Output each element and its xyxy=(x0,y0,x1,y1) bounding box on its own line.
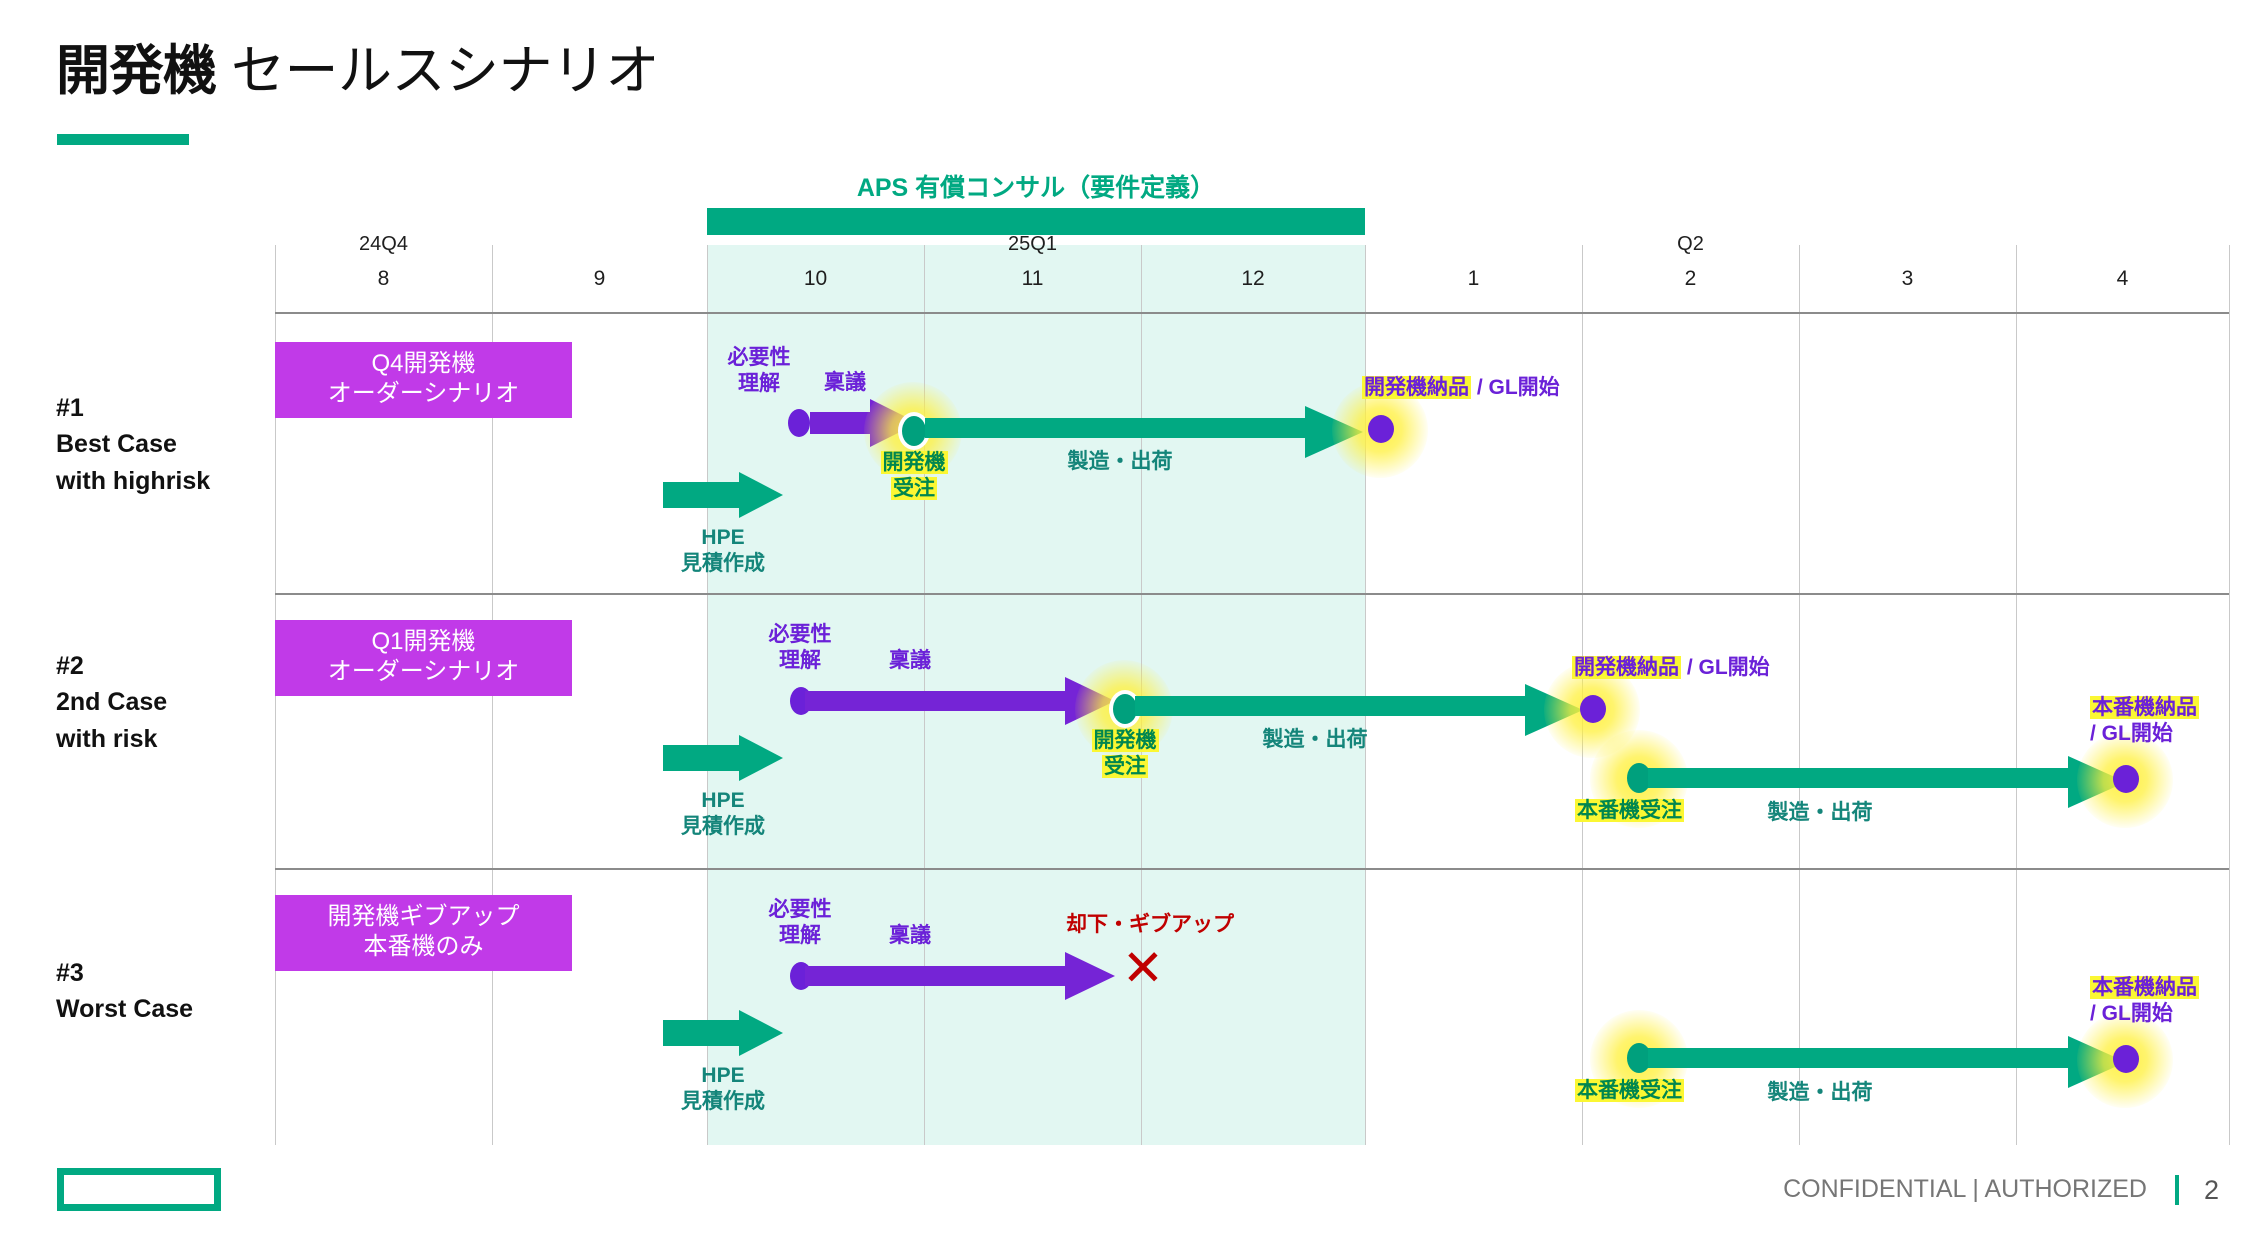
row3-num: #3 xyxy=(56,955,193,991)
ringi-label-2: 稟議 xyxy=(860,648,960,674)
prod-delivery-dot-2 xyxy=(2113,765,2139,793)
page-title-bold: 開発機 xyxy=(56,41,217,101)
prod-delivery-label-3: 本番機納品 / GL開始 xyxy=(2090,975,2199,1026)
scenario-badge-2[interactable]: Q1開発機 オーダーシナリオ xyxy=(275,620,572,696)
need-dot-1 xyxy=(788,409,810,437)
aps-consult-bar xyxy=(707,208,1365,235)
need-2-line2: 理解 xyxy=(740,648,860,674)
ringi-label-1: 稟議 xyxy=(795,370,895,396)
prod-manufacture-3-text: 製造・出荷 xyxy=(1768,1081,1873,1104)
prod-delivery-3-rest: / GL開始 xyxy=(2090,1001,2199,1027)
row2-line3: with risk xyxy=(56,721,167,757)
quarter-label-25q1: 25Q1 xyxy=(924,233,1141,256)
prod-order-label-3: 本番機受注 xyxy=(1575,1078,1684,1104)
row-separator-1 xyxy=(275,593,2229,595)
manufacture-arrow-2 xyxy=(1135,688,1585,724)
delivery-label-1: 開発機納品 / GL開始 xyxy=(1362,375,1560,401)
prod-order-2-text: 本番機受注 xyxy=(1575,799,1684,822)
prod-delivery-2-hl: 本番機納品 xyxy=(2090,696,2199,719)
title-underline-rule xyxy=(57,134,189,145)
month-label-9: 9 xyxy=(492,267,707,291)
row-label-1: #1 Best Case with highrisk xyxy=(56,390,210,499)
delivery-2-rest: / GL開始 xyxy=(1681,656,1770,679)
month-label-2: 2 xyxy=(1582,267,1799,291)
month-label-11: 11 xyxy=(924,267,1141,291)
delivery-label-2: 開発機納品 / GL開始 xyxy=(1572,655,1770,681)
prod-delivery-label-2: 本番機納品 / GL開始 xyxy=(2090,695,2199,746)
scenario-badge-2-line1: Q1開発機 xyxy=(275,627,572,657)
month-label-1: 1 xyxy=(1365,267,1582,291)
prod-manufacture-label-3: 製造・出荷 xyxy=(1700,1080,1940,1106)
prod-manufacture-arrow-2 xyxy=(1648,760,2128,796)
row3-line2: Worst Case xyxy=(56,991,193,1027)
hpe-logo xyxy=(57,1168,221,1211)
manufacture-label-2: 製造・出荷 xyxy=(1195,727,1435,753)
page-title-light: セールスシナリオ xyxy=(217,41,660,101)
prod-delivery-dot-3 xyxy=(2113,1045,2139,1073)
row1-line3: with highrisk xyxy=(56,463,210,499)
ringi-3-text: 稟議 xyxy=(889,924,931,947)
ringi-1-text: 稟議 xyxy=(824,371,866,394)
need-label-3: 必要性 理解 xyxy=(740,897,860,948)
hpe-quote-2-line2: 見積作成 xyxy=(663,814,783,840)
page-title: 開発機 セールスシナリオ xyxy=(56,26,659,105)
order-1-line1: 開発機 xyxy=(881,451,948,474)
hpe-quote-arrow-3 xyxy=(663,1020,783,1046)
scenario-badge-3-line2: 本番機のみ xyxy=(275,932,572,962)
row1-line2: Best Case xyxy=(56,426,210,462)
hpe-quote-3-line1: HPE xyxy=(663,1063,783,1089)
need-3-line1: 必要性 xyxy=(740,897,860,923)
reject-3-text: 却下・ギブアップ xyxy=(1066,913,1234,936)
grid-col-line xyxy=(1799,245,1800,1145)
delivery-1-rest: / GL開始 xyxy=(1471,376,1560,399)
prod-manufacture-2-text: 製造・出荷 xyxy=(1768,801,1873,824)
order-label-2: 開発機 受注 xyxy=(1065,728,1185,779)
delivery-2-hl: 開発機納品 xyxy=(1572,656,1681,679)
order-1-line2: 受注 xyxy=(891,477,937,500)
row2-line2: 2nd Case xyxy=(56,684,167,720)
order-dot-1 xyxy=(902,416,926,446)
scenario-badge-1[interactable]: Q4開発機 オーダーシナリオ xyxy=(275,342,572,418)
manufacture-1-text: 製造・出荷 xyxy=(1068,450,1173,473)
reject-x-icon: ✕ xyxy=(1122,943,1164,993)
delivery-1-hl: 開発機納品 xyxy=(1362,376,1471,399)
row-separator-2 xyxy=(275,868,2229,870)
manufacture-arrow-1 xyxy=(925,410,1363,446)
need-2-line1: 必要性 xyxy=(740,622,860,648)
manufacture-label-1: 製造・出荷 xyxy=(1000,449,1240,475)
order-label-1: 開発機 受注 xyxy=(854,450,974,501)
quarter-label-24q4: 24Q4 xyxy=(275,233,492,256)
hpe-quote-label-2: HPE 見積作成 xyxy=(663,788,783,839)
need-3-line2: 理解 xyxy=(740,923,860,949)
grid-col-line xyxy=(2016,245,2017,1145)
need-1-line1: 必要性 xyxy=(699,345,819,371)
footer-divider xyxy=(2175,1175,2179,1205)
aps-consult-label: APS 有償コンサル（要件定義） xyxy=(707,168,1365,204)
hpe-quote-label-3: HPE 見積作成 xyxy=(663,1063,783,1114)
scenario-badge-3-line1: 開発機ギブアップ xyxy=(275,902,572,932)
footer-page-number: 2 xyxy=(2204,1175,2219,1206)
hpe-quote-1-line1: HPE xyxy=(663,525,783,551)
prod-order-label-2: 本番機受注 xyxy=(1575,798,1684,824)
row-label-3: #3 Worst Case xyxy=(56,955,193,1028)
prod-delivery-3-hl: 本番機納品 xyxy=(2090,976,2199,999)
month-label-10: 10 xyxy=(707,267,924,291)
hpe-quote-arrow-2 xyxy=(663,745,783,771)
row1-num: #1 xyxy=(56,390,210,426)
hpe-quote-1-line2: 見積作成 xyxy=(663,551,783,577)
hpe-quote-2-line1: HPE xyxy=(663,788,783,814)
scenario-badge-1-line2: オーダーシナリオ xyxy=(275,379,572,409)
footer-classification: CONFIDENTIAL | AUTHORIZED xyxy=(1783,1175,2147,1204)
month-label-3: 3 xyxy=(1799,267,2016,291)
grid-col-line xyxy=(2229,245,2230,1145)
need-label-2: 必要性 理解 xyxy=(740,622,860,673)
delivery-dot-1 xyxy=(1368,415,1394,443)
slide-canvas: 開発機 セールスシナリオ APS 有償コンサル（要件定義） 24Q4 25Q1 … xyxy=(0,0,2257,1234)
quarter-label-q2: Q2 xyxy=(1582,233,1799,256)
order-2-line1: 開発機 xyxy=(1092,729,1159,752)
prod-manufacture-label-2: 製造・出荷 xyxy=(1700,800,1940,826)
row2-num: #2 xyxy=(56,648,167,684)
order-dot-2 xyxy=(1113,694,1137,724)
header-axis-line xyxy=(275,312,2229,314)
row-label-2: #2 2nd Case with risk xyxy=(56,648,167,757)
reject-label-3: 却下・ギブアップ xyxy=(1040,912,1260,938)
hpe-quote-arrow-1 xyxy=(663,482,783,508)
prod-order-3-text: 本番機受注 xyxy=(1575,1079,1684,1102)
order-2-line2: 受注 xyxy=(1102,755,1148,778)
scenario-badge-3[interactable]: 開発機ギブアップ 本番機のみ xyxy=(275,895,572,971)
ringi-2-text: 稟議 xyxy=(889,649,931,672)
ringi-arrow-3 xyxy=(805,961,1117,991)
scenario-badge-1-line1: Q4開発機 xyxy=(275,349,572,379)
prod-delivery-2-rest: / GL開始 xyxy=(2090,721,2199,747)
month-label-8: 8 xyxy=(275,267,492,291)
scenario-badge-2-line2: オーダーシナリオ xyxy=(275,657,572,687)
hpe-quote-3-line2: 見積作成 xyxy=(663,1089,783,1115)
hpe-quote-label-1: HPE 見積作成 xyxy=(663,525,783,576)
delivery-dot-2 xyxy=(1580,695,1606,723)
ringi-label-3: 稟議 xyxy=(860,923,960,949)
prod-manufacture-arrow-3 xyxy=(1648,1040,2128,1076)
month-label-4: 4 xyxy=(2016,267,2229,291)
manufacture-2-text: 製造・出荷 xyxy=(1263,728,1368,751)
month-label-12: 12 xyxy=(1141,267,1365,291)
ringi-arrow-2 xyxy=(805,686,1117,716)
